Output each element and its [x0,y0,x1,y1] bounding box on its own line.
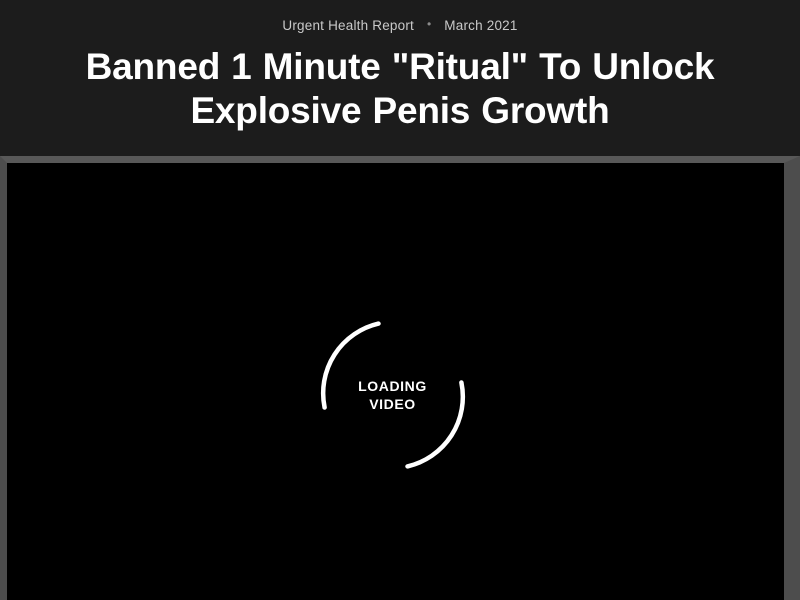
video-stage[interactable]: LOADING VIDEO [7,163,784,600]
article-meta: Urgent Health Report • March 2021 [0,0,800,35]
page-title: Banned 1 Minute "Ritual" To Unlock Explo… [0,35,800,133]
landing-page: Urgent Health Report • March 2021 Banned… [0,0,800,600]
page-title-line-2: Explosive Penis Growth [190,90,609,131]
loading-spinner-icon [318,320,468,470]
article-date-label: March 2021 [444,18,517,33]
page-title-line-1: Banned 1 Minute "Ritual" To Unlock [86,46,715,87]
page-header: Urgent Health Report • March 2021 Banned… [0,0,800,156]
video-loading-indicator: LOADING VIDEO [318,320,468,470]
video-player-frame[interactable]: LOADING VIDEO [0,156,800,600]
bullet-separator-icon: • [427,15,431,33]
article-source-label: Urgent Health Report [282,18,414,33]
